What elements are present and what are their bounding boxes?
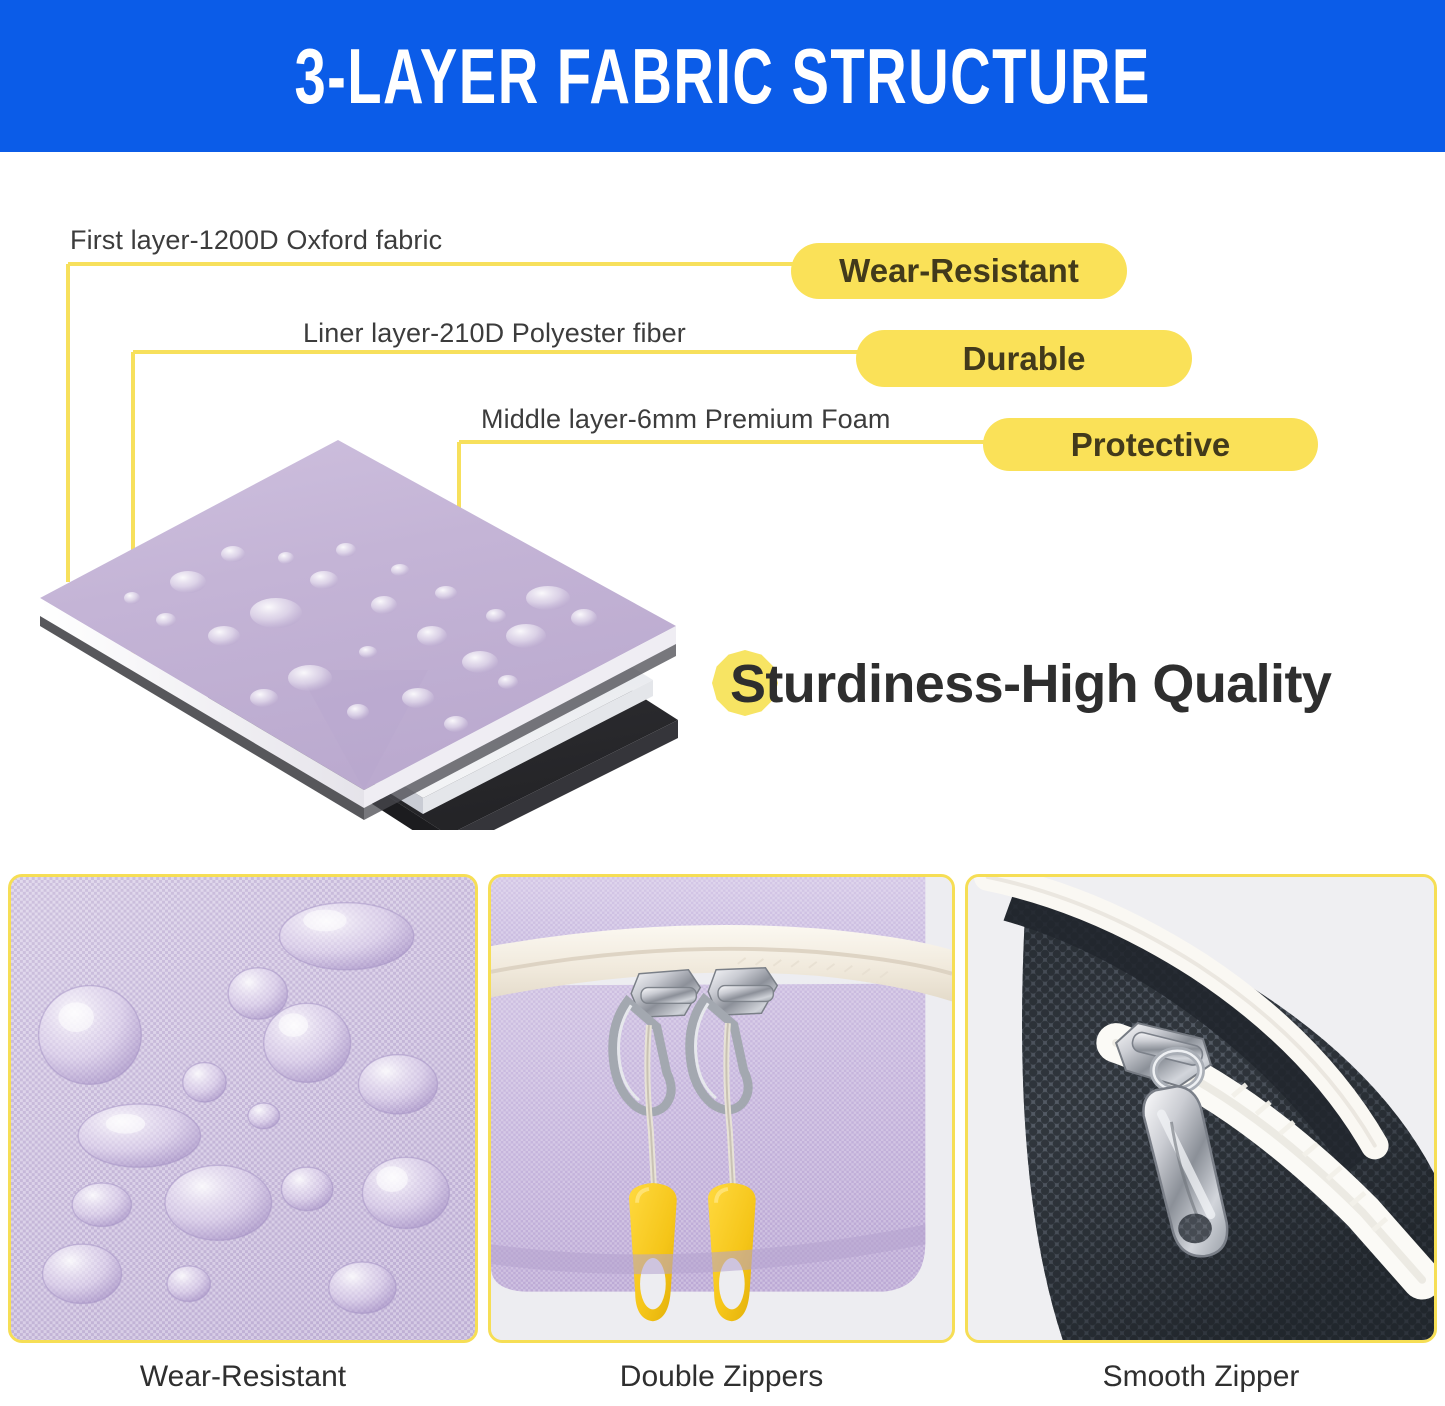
fabric-droplets-photo (11, 877, 475, 1340)
feature-pill-protective: Protective (983, 418, 1318, 471)
page-title: 3-LAYER FABRIC STRUCTURE (294, 37, 1150, 115)
header-banner: 3-LAYER FABRIC STRUCTURE (0, 0, 1445, 152)
double-zipper-photo (491, 877, 952, 1340)
gallery-caption-double-zippers: Double Zippers (488, 1360, 955, 1394)
feature-pill-wear-resistant: Wear-Resistant (791, 243, 1127, 299)
feature-pill-durable: Durable (856, 330, 1192, 387)
gallery-tile-double-zippers[interactable] (488, 874, 955, 1343)
gallery-tile-smooth-zipper[interactable] (965, 874, 1437, 1343)
layer-label-liner: Liner layer-210D Polyester fiber (303, 318, 686, 349)
mesh-zipper-photo (968, 877, 1434, 1340)
fabric-layer-diagram (28, 430, 708, 830)
gallery-tile-wear-resistant[interactable] (8, 874, 478, 1343)
layer-label-first: First layer-1200D Oxford fabric (70, 225, 442, 256)
gallery-caption-wear-resistant: Wear-Resistant (8, 1360, 478, 1394)
sturdiness-headline-text: Sturdiness-High Quality (730, 648, 1331, 720)
gallery-caption-smooth-zipper: Smooth Zipper (965, 1360, 1437, 1394)
sturdiness-headline: Sturdiness-High Quality (712, 648, 1331, 720)
